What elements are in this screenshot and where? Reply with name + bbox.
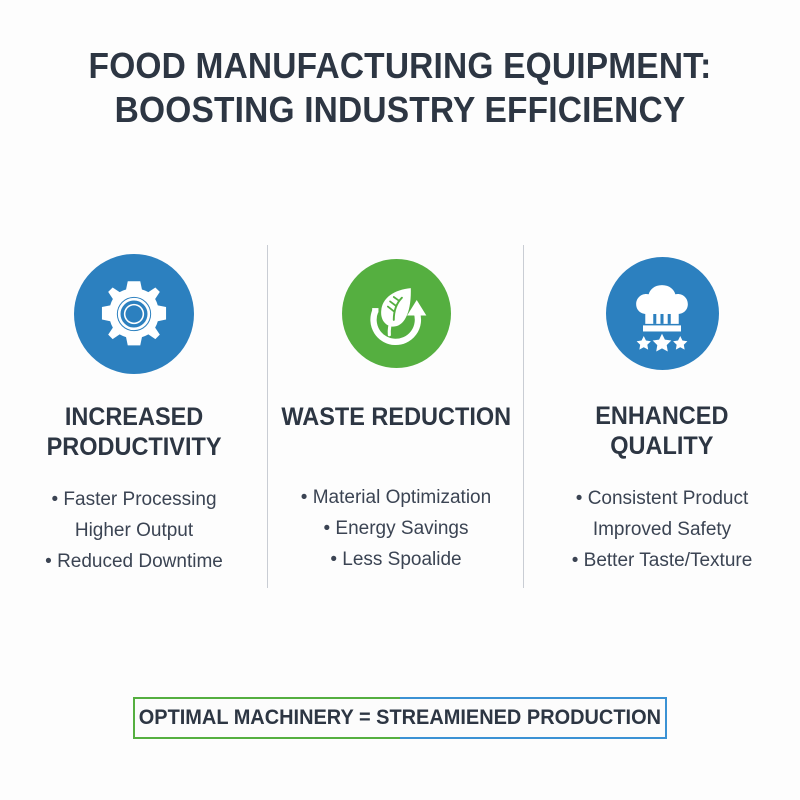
- benefit-column-enhanced-quality: ENHANCED QUALITY • Consistent Product Im…: [524, 240, 800, 590]
- list-item-label: Higher Output: [75, 520, 193, 541]
- list-item-label: Faster Processing: [63, 489, 216, 510]
- list-item-label: Reduced Downtime: [57, 551, 223, 572]
- benefit-column-increased-productivity: INCREASED PRODUCTIVITY • Faster Processi…: [0, 240, 268, 590]
- list-item-label: Less Spoalide: [342, 549, 461, 570]
- benefit-list: • Material Optimization • Energy Savings…: [301, 482, 491, 575]
- banner-border-top-green: [133, 697, 400, 699]
- bullet-dot: •: [301, 487, 308, 508]
- summary-banner: OPTIMAL MACHINERY = STREAMIENED PRODUCTI…: [133, 697, 667, 739]
- column-heading-line-1: ENHANCED: [595, 401, 728, 431]
- bullet-dot: •: [323, 518, 330, 539]
- gear-icon: [74, 254, 194, 374]
- list-item-label: Material Optimization: [313, 487, 491, 508]
- list-item-label: Better Taste/Texture: [584, 550, 753, 571]
- title-line-2: BOOSTING INDUSTRY EFFICIENCY: [28, 88, 772, 132]
- bullet-dot: •: [576, 488, 583, 509]
- list-item: Improved Safety: [572, 514, 753, 545]
- list-item-label: Energy Savings: [335, 518, 468, 539]
- column-heading-line-2: PRODUCTIVITY: [47, 432, 222, 462]
- leaf-recycle-icon: [342, 259, 451, 368]
- list-item: • Consistent Product: [572, 483, 753, 514]
- list-item-label: Consistent Product: [588, 488, 749, 509]
- chef-hat-stars-icon: [606, 257, 719, 370]
- infographic-canvas: FOOD MANUFACTURING EQUIPMENT: BOOSTING I…: [0, 0, 800, 800]
- list-item: Higher Output: [45, 515, 223, 546]
- banner-border-bottom-green: [133, 737, 400, 739]
- list-item-label: Improved Safety: [593, 519, 731, 540]
- column-heading-line-1: INCREASED: [47, 402, 222, 432]
- page-title: FOOD MANUFACTURING EQUIPMENT: BOOSTING I…: [0, 44, 800, 132]
- banner-border-bottom-blue: [400, 737, 667, 739]
- column-heading-line-1: WASTE REDUCTION: [281, 402, 511, 432]
- banner-border-top-blue: [400, 697, 667, 699]
- banner-border-left: [133, 697, 135, 739]
- list-item: • Reduced Downtime: [45, 546, 223, 577]
- list-item: • Energy Savings: [301, 513, 491, 544]
- list-item: • Material Optimization: [301, 482, 491, 513]
- summary-banner-text: OPTIMAL MACHINERY = STREAMIENED PRODUCTI…: [139, 706, 661, 730]
- bullet-dot: •: [572, 550, 579, 571]
- benefit-list: • Consistent Product Improved Safety • B…: [572, 483, 753, 576]
- column-heading: WASTE REDUCTION: [281, 402, 511, 432]
- column-heading-line-2: QUALITY: [595, 431, 728, 461]
- benefit-list: • Faster Processing Higher Output • Redu…: [45, 484, 223, 577]
- bullet-dot: •: [330, 549, 337, 570]
- column-heading: ENHANCED QUALITY: [595, 401, 728, 461]
- list-item: • Better Taste/Texture: [572, 545, 753, 576]
- bullet-dot: •: [51, 489, 58, 510]
- bullet-dot: •: [45, 551, 52, 572]
- title-line-1: FOOD MANUFACTURING EQUIPMENT:: [28, 44, 772, 88]
- list-item: • Faster Processing: [45, 484, 223, 515]
- column-heading: INCREASED PRODUCTIVITY: [47, 402, 222, 462]
- benefit-column-waste-reduction: WASTE REDUCTION • Material Optimization …: [268, 240, 524, 590]
- list-item: • Less Spoalide: [301, 544, 491, 575]
- benefit-columns: INCREASED PRODUCTIVITY • Faster Processi…: [0, 240, 800, 590]
- banner-border-right: [665, 697, 667, 739]
